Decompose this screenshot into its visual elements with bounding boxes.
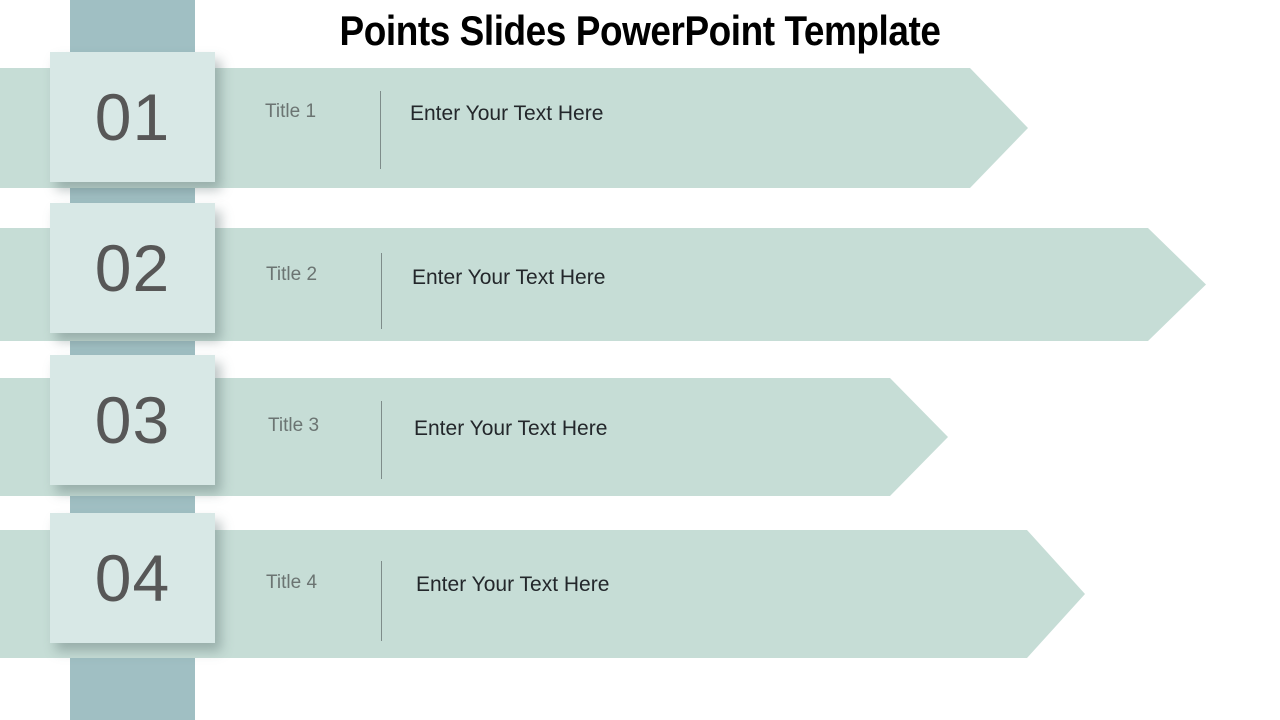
row-text-1: Enter Your Text Here — [410, 102, 603, 126]
row-text-3: Enter Your Text Here — [414, 417, 607, 441]
number-badge-label: 01 — [95, 84, 170, 150]
row-title-3: Title 3 — [268, 415, 319, 437]
row-text-4: Enter Your Text Here — [416, 573, 609, 597]
row-divider-4 — [381, 561, 382, 641]
row-divider-2 — [381, 253, 382, 329]
slide-canvas: Points Slides PowerPoint Template Title … — [0, 0, 1280, 720]
number-badge-04[interactable]: 04 — [50, 513, 215, 643]
number-badge-03[interactable]: 03 — [50, 355, 215, 485]
arrow-tip-2 — [1148, 228, 1206, 341]
number-badge-label: 02 — [95, 235, 170, 301]
row-title-1: Title 1 — [265, 101, 316, 123]
number-badge-label: 03 — [95, 387, 170, 453]
number-badge-label: 04 — [95, 545, 170, 611]
arrow-tip-1 — [970, 68, 1028, 188]
page-title: Points Slides PowerPoint Template — [77, 4, 1203, 58]
row-divider-3 — [381, 401, 382, 479]
row-divider-1 — [380, 91, 381, 169]
number-badge-02[interactable]: 02 — [50, 203, 215, 333]
number-badge-01[interactable]: 01 — [50, 52, 215, 182]
row-text-2: Enter Your Text Here — [412, 266, 605, 290]
row-title-2: Title 2 — [266, 264, 317, 286]
row-title-4: Title 4 — [266, 572, 317, 594]
arrow-tip-4 — [1027, 530, 1085, 658]
arrow-tip-3 — [890, 378, 948, 496]
